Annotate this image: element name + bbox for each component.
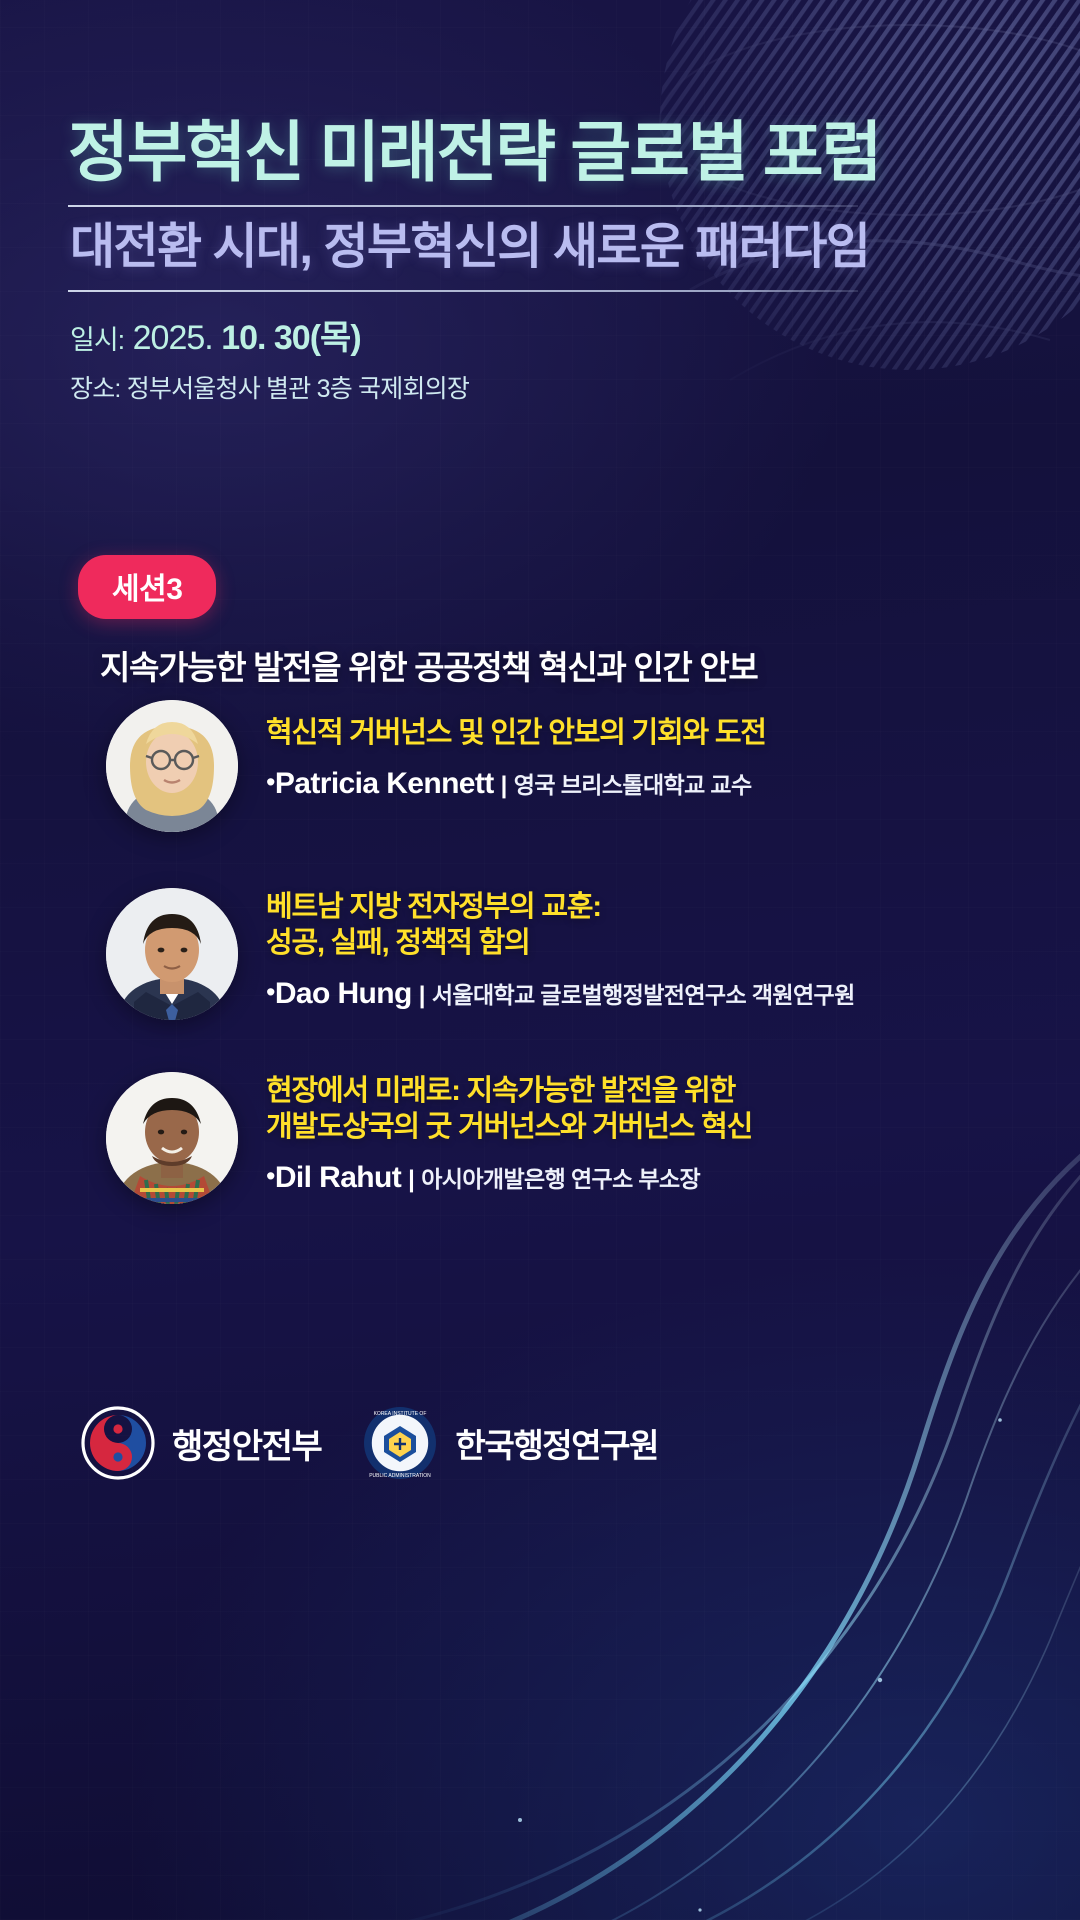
page-subtitle: 대전환 시대, 정부혁신의 새로운 패러다임 — [68, 207, 858, 279]
avatar — [106, 888, 238, 1020]
taegeuk-government-emblem-icon — [80, 1405, 156, 1481]
poster-root: 정부혁신 미래전략 글로벌 포럼 대전환 시대, 정부혁신의 새로운 패러다임 … — [0, 0, 1080, 1920]
avatar — [106, 700, 238, 832]
talk-title: 혁신적 거버넌스 및 인간 안보의 기회와 도전 — [266, 716, 766, 752]
list-item: 베트남 지방 전자정부의 교훈: 성공, 실패, 정책적 함의 • Dao Hu… — [106, 888, 1046, 1020]
speaker-name: Dao Hung — [275, 977, 412, 1010]
speaker-credit: • Dao Hung | 서울대학교 글로벌행정발전연구소 객원연구원 — [266, 976, 855, 1011]
list-item: 혁신적 거버넌스 및 인간 안보의 기회와 도전 • Patricia Kenn… — [106, 700, 1046, 832]
credit-separator: | — [494, 772, 514, 799]
speaker-name: Dil Rahut — [275, 1161, 401, 1194]
talk-title-line2: 성공, 실패, 정책적 함의 — [266, 926, 855, 962]
event-meta: 일시: 2025. 10. 30(목) 장소: 정부서울청사 별관 3층 국제회… — [68, 316, 858, 404]
logo-moisa: 행정안전부 — [80, 1405, 321, 1481]
speaker-name: Patricia Kennett — [275, 767, 494, 800]
date-daymonth: 10. 30(목) — [221, 319, 360, 357]
speaker-credit: • Dil Rahut | 아시아개발은행 연구소 부소장 — [266, 1160, 752, 1195]
portrait-man-suit-tie-icon — [106, 888, 238, 1020]
talk-title-line1: 현장에서 미래로: 지속가능한 발전을 위한 — [266, 1074, 752, 1110]
bullet-icon: • — [266, 977, 275, 1007]
talk-title-line1: 혁신적 거버넌스 및 인간 안보의 기회와 도전 — [266, 717, 766, 749]
logo-kipa: KOREA INSTITUTE OF PUBLIC ADMINISTRATION… — [361, 1404, 658, 1482]
svg-text:KOREA INSTITUTE OF: KOREA INSTITUTE OF — [374, 1411, 427, 1417]
session-block: 세션3 지속가능한 발전을 위한 공공정책 혁신과 인간 안보 — [78, 555, 1008, 689]
credit-separator: | — [401, 1166, 421, 1193]
bullet-icon: • — [266, 767, 275, 797]
speaker-info: 현장에서 미래로: 지속가능한 발전을 위한 개발도상국의 굿 거버넌스와 거버… — [238, 1072, 752, 1195]
list-item: 현장에서 미래로: 지속가능한 발전을 위한 개발도상국의 굿 거버넌스와 거버… — [106, 1072, 1046, 1204]
speaker-affiliation: 서울대학교 글로벌행정발전연구소 객원연구원 — [432, 982, 855, 1008]
talk-title: 현장에서 미래로: 지속가능한 발전을 위한 개발도상국의 굿 거버넌스와 거버… — [266, 1074, 752, 1146]
svg-text:PUBLIC ADMINISTRATION: PUBLIC ADMINISTRATION — [370, 1473, 432, 1479]
date-label: 일시: — [70, 325, 124, 355]
page-title: 정부혁신 미래전략 글로벌 포럼 — [68, 118, 858, 187]
credit-separator: | — [412, 982, 432, 1009]
speaker-affiliation: 아시아개발은행 연구소 부소장 — [421, 1166, 700, 1192]
talk-title-line2: 개발도상국의 굿 거버넌스와 거버넌스 혁신 — [266, 1110, 752, 1146]
bullet-icon: • — [266, 1161, 275, 1191]
portrait-man-traditional-dress-icon — [106, 1072, 238, 1204]
speaker-credit: • Patricia Kennett | 영국 브리스톨대학교 교수 — [266, 766, 766, 801]
event-venue: 장소: 정부서울청사 별관 3층 국제회의장 — [70, 369, 858, 405]
speaker-list: 혁신적 거버넌스 및 인간 안보의 기회와 도전 • Patricia Kenn… — [106, 700, 1046, 1264]
footer-logos: 행정안전부 KOREA INSTITUTE OF PUBLIC ADMINIST… — [80, 1404, 658, 1482]
logo-label: 행정안전부 — [172, 1419, 321, 1468]
poster-header: 정부혁신 미래전략 글로벌 포럼 대전환 시대, 정부혁신의 새로운 패러다임 … — [68, 118, 858, 405]
talk-title: 베트남 지방 전자정부의 교훈: 성공, 실패, 정책적 함의 — [266, 890, 855, 962]
portrait-woman-blonde-glasses-icon — [106, 700, 238, 832]
status-badge: 세션3 — [78, 555, 216, 619]
speaker-info: 베트남 지방 전자정부의 교훈: 성공, 실패, 정책적 함의 • Dao Hu… — [238, 888, 855, 1011]
speaker-affiliation: 영국 브리스톨대학교 교수 — [514, 772, 752, 798]
logo-label: 한국행정연구원 — [455, 1419, 658, 1467]
avatar — [106, 1072, 238, 1204]
session-title: 지속가능한 발전을 위한 공공정책 혁신과 인간 안보 — [100, 641, 1008, 689]
talk-title-line1: 베트남 지방 전자정부의 교훈: — [266, 890, 855, 926]
divider-bottom — [68, 290, 858, 292]
kipa-circular-seal-icon: KOREA INSTITUTE OF PUBLIC ADMINISTRATION — [361, 1404, 439, 1482]
event-date-line: 일시: 2025. 10. 30(목) — [70, 316, 858, 360]
date-year: 2025. — [133, 319, 213, 357]
speaker-info: 혁신적 거버넌스 및 인간 안보의 기회와 도전 • Patricia Kenn… — [238, 700, 766, 801]
